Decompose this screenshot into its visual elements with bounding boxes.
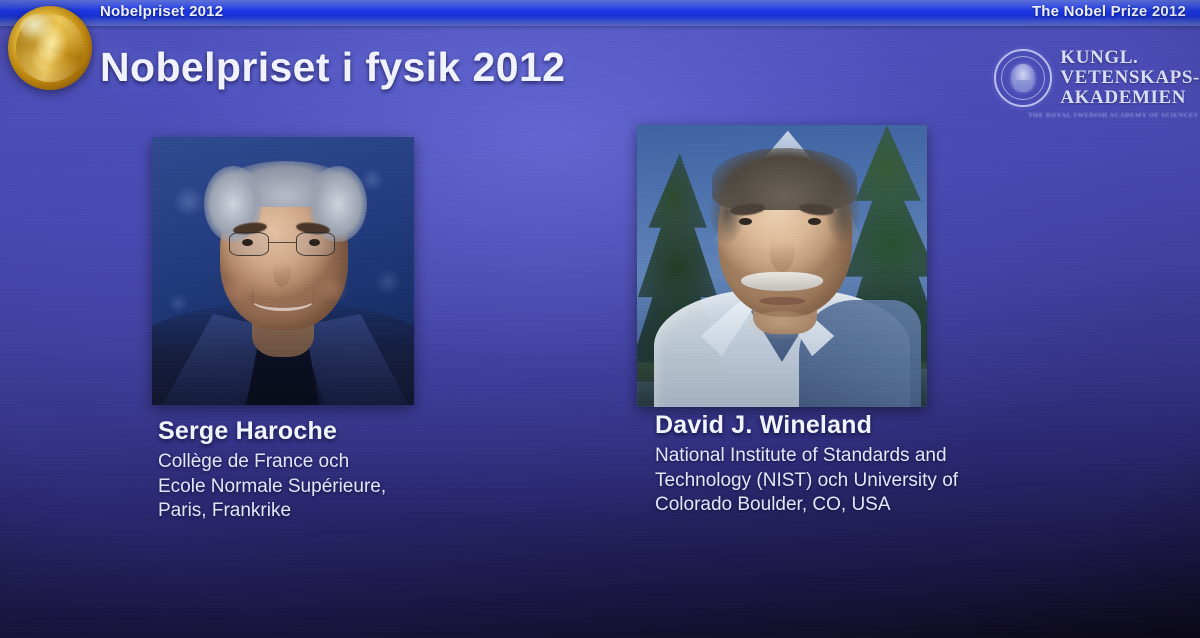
academy-logo-tagline: THE ROYAL SWEDISH ACADEMY OF SCIENCES	[1028, 112, 1198, 119]
header-bar-right-label: The Nobel Prize 2012	[1032, 3, 1186, 20]
portrait-eye-right	[309, 239, 320, 246]
laureate-caption-wineland: David J. Wineland National Institute of …	[655, 411, 1075, 518]
affiliation-line: Ecole Normale Supérieure,	[158, 475, 488, 500]
portrait-cheek-right	[317, 276, 348, 303]
portrait-cheek-left	[223, 276, 254, 303]
affiliation-line: Paris, Frankrike	[158, 499, 488, 524]
academy-logo: KUNGL. VETENSKAPS- AKADEMIEN	[994, 48, 1200, 107]
portrait-nose	[770, 232, 793, 271]
portrait-serge-haroche	[152, 137, 414, 405]
laureate-name: Serge Haroche	[158, 417, 488, 446]
academy-logo-line-1: KUNGL.	[1060, 48, 1200, 68]
nobel-medal-icon	[8, 6, 92, 90]
portrait-david-wineland	[637, 125, 927, 407]
page-title: Nobelpriset i fysik 2012	[100, 44, 565, 91]
portrait-eyeglass-bridge	[269, 242, 298, 244]
affiliation-line: Technology (NIST) och University of	[655, 469, 1075, 494]
medal-glint	[20, 14, 55, 39]
portrait-chin	[747, 311, 817, 339]
affiliation-line: Colorado Boulder, CO, USA	[655, 493, 1075, 518]
kva-seal-icon	[994, 49, 1052, 107]
affiliation-line: National Institute of Standards and	[655, 444, 1075, 469]
slide-header-bar: Nobelpriset 2012 The Nobel Prize 2012	[0, 0, 1200, 26]
academy-logo-line-2: VETENSKAPS-	[1060, 68, 1200, 88]
laureate-affiliation: National Institute of Standards and Tech…	[655, 444, 1075, 518]
laureate-affiliation: Collège de France och Ecole Normale Supé…	[158, 450, 488, 524]
affiliation-line: Collège de France och	[158, 450, 488, 475]
portrait-shoulder-right	[799, 300, 921, 407]
portrait-nose	[273, 255, 291, 287]
laureate-name: David J. Wineland	[655, 411, 1075, 440]
academy-logo-line-3: AKADEMIEN	[1060, 88, 1200, 108]
kva-seal-head	[1011, 64, 1035, 92]
academy-logo-wordmark: KUNGL. VETENSKAPS- AKADEMIEN	[1060, 48, 1200, 107]
laureate-card-wineland	[637, 125, 927, 407]
portrait-eye-left	[242, 239, 253, 246]
presentation-slide: Nobelpriset 2012 The Nobel Prize 2012 KU…	[0, 0, 1200, 638]
laureate-caption-haroche: Serge Haroche Collège de France och Ecol…	[158, 417, 488, 524]
laureate-card-haroche	[152, 137, 414, 405]
header-bar-left-label: Nobelpriset 2012	[100, 3, 223, 20]
